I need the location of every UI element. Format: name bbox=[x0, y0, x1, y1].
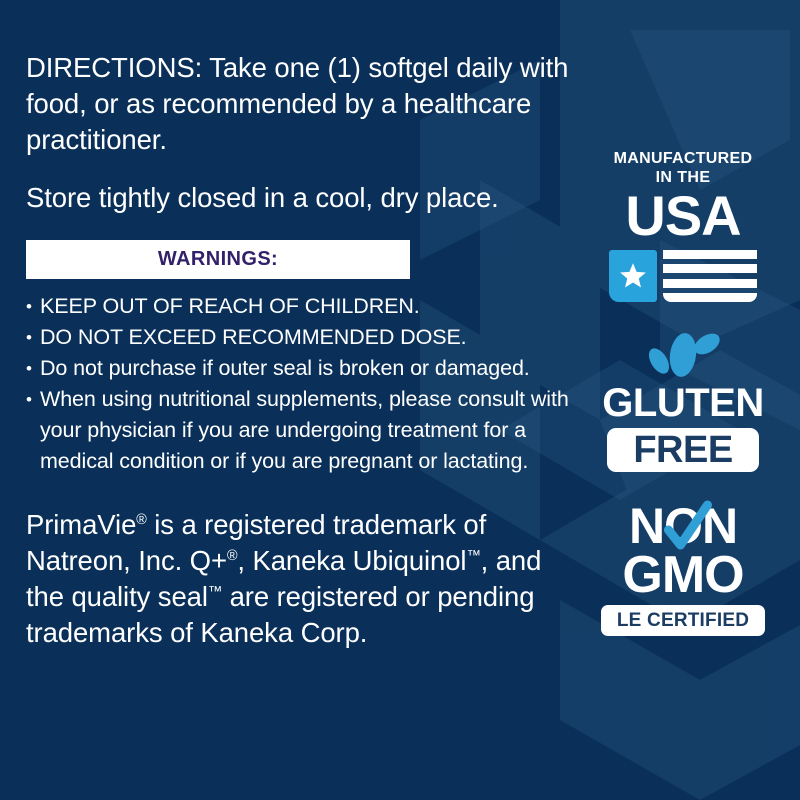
certified-pill: LE CERTIFIED bbox=[601, 605, 765, 636]
gluten-word: GLUTEN bbox=[588, 382, 778, 424]
flag-stripes bbox=[663, 250, 757, 302]
warning-item: KEEP OUT OF REACH OF CHILDREN. bbox=[26, 291, 571, 322]
leaf-left bbox=[645, 345, 673, 377]
warnings-list: KEEP OUT OF REACH OF CHILDREN. DO NOT EX… bbox=[26, 291, 571, 477]
leaf-center bbox=[667, 331, 699, 378]
registered-mark-icon: ® bbox=[136, 512, 146, 528]
flag-stripe bbox=[663, 279, 757, 288]
warning-item: DO NOT EXCEED RECOMMENDED DOSE. bbox=[26, 322, 571, 353]
flag-canton bbox=[609, 250, 657, 302]
certification-text: LE CERTIFIED bbox=[617, 610, 749, 632]
usa-badge-line-1: MANUFACTURED bbox=[588, 150, 778, 168]
trademark-segment: PrimaVie bbox=[26, 509, 136, 540]
gluten-free-badge: GLUTEN FREE bbox=[588, 330, 778, 472]
directions-paragraph: DIRECTIONS: Take one (1) softgel daily w… bbox=[26, 50, 571, 158]
flag-stripe bbox=[663, 293, 757, 302]
warnings-title: WARNINGS: bbox=[158, 248, 278, 271]
flag-stripe bbox=[663, 250, 757, 259]
gluten-free-leaves-icon bbox=[638, 330, 728, 380]
trademark-segment: , Kaneka Ubiquinol bbox=[237, 545, 466, 576]
free-word: FREE bbox=[633, 431, 732, 469]
trademark-mark-icon: ™ bbox=[208, 584, 222, 600]
star-icon bbox=[618, 261, 648, 291]
certification-badge-rail: MANUFACTURED IN THE USA bbox=[588, 0, 788, 800]
non-gmo-badge: NON GMO LE CERTIFIED bbox=[588, 500, 778, 636]
free-pill: FREE bbox=[607, 428, 759, 472]
leaf-icon bbox=[638, 330, 728, 380]
storage-paragraph: Store tightly closed in a cool, dry plac… bbox=[26, 180, 571, 216]
manufactured-in-usa-badge: MANUFACTURED IN THE USA bbox=[588, 150, 778, 302]
trademark-paragraph: PrimaVie® is a registered trademark of N… bbox=[26, 507, 571, 651]
flag-stripe bbox=[663, 264, 757, 273]
usa-flag-icon bbox=[609, 250, 757, 302]
registered-mark-icon: ® bbox=[227, 548, 237, 564]
warning-item: When using nutritional supplements, plea… bbox=[26, 384, 571, 477]
non-word-row: NON bbox=[588, 500, 778, 552]
non-word: NON bbox=[629, 498, 737, 554]
warning-item: Do not purchase if outer seal is broken … bbox=[26, 353, 571, 384]
trademark-mark-icon: ™ bbox=[466, 548, 480, 564]
gmo-word: GMO bbox=[588, 548, 778, 602]
warnings-banner: WARNINGS: bbox=[26, 240, 410, 279]
usa-badge-headline: USA bbox=[588, 188, 778, 244]
label-text-column: DIRECTIONS: Take one (1) softgel daily w… bbox=[26, 50, 571, 651]
